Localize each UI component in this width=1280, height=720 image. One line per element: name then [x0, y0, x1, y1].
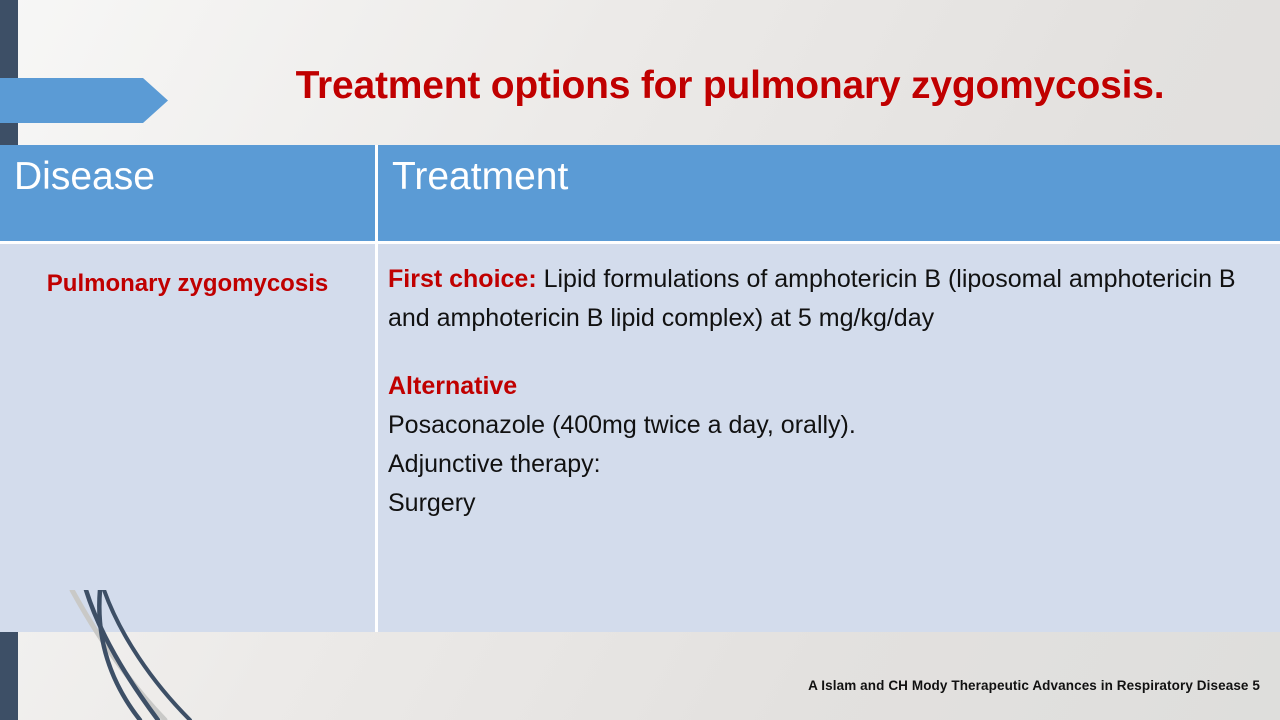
first-choice-label: First choice: [388, 265, 537, 293]
footer-citation: A Islam and CH Mody Therapeutic Advances… [808, 678, 1260, 693]
treatment-content: First choice: Lipid formulations of amph… [378, 244, 1280, 524]
page-title: Treatment options for pulmonary zygomyco… [200, 64, 1260, 108]
alternative-line-2: Adjunctive therapy: [388, 445, 1252, 484]
treatment-options-table: Disease Treatment Pulmonary zygomycosis … [0, 145, 1280, 632]
alternative-heading-paragraph: Alternative [388, 367, 1252, 406]
alternative-line-3: Surgery [388, 484, 1252, 523]
alternative-label: Alternative [388, 372, 517, 400]
first-choice-paragraph: First choice: Lipid formulations of amph… [388, 260, 1252, 339]
cell-treatment: First choice: Lipid formulations of amph… [378, 244, 1280, 632]
table-row: Pulmonary zygomycosis First choice: Lipi… [0, 244, 1280, 632]
alternative-line-1: Posaconazole (400mg twice a day, orally)… [388, 406, 1252, 445]
column-header-treatment: Treatment [378, 145, 1280, 244]
column-header-disease: Disease [0, 145, 378, 244]
paragraph-spacer [388, 339, 1252, 367]
cell-disease: Pulmonary zygomycosis [0, 244, 378, 632]
disease-name: Pulmonary zygomycosis [0, 244, 375, 304]
table-header-row: Disease Treatment [0, 145, 1280, 244]
slide-canvas: Treatment options for pulmonary zygomyco… [0, 0, 1280, 720]
arrow-banner-decoration [8, 78, 168, 123]
